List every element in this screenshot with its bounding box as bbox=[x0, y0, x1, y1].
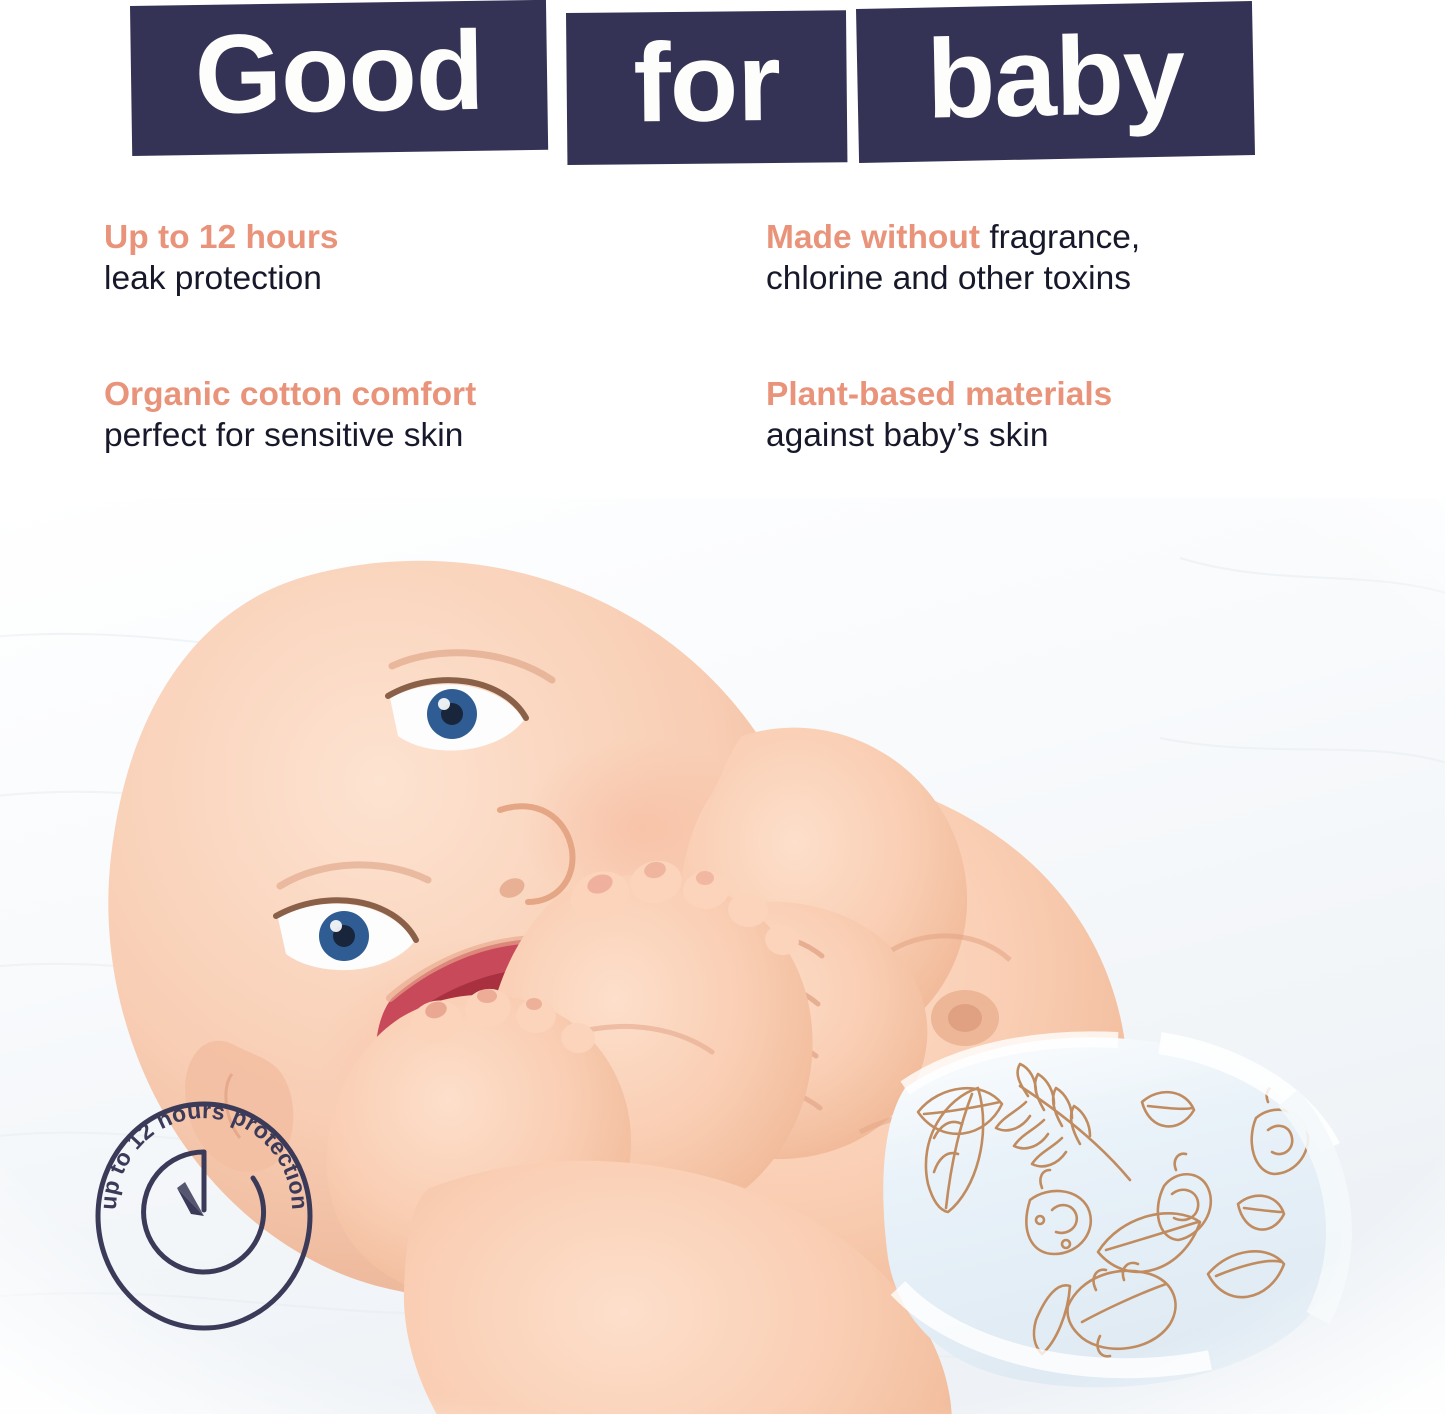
header-word-baby: baby bbox=[926, 18, 1186, 145]
feature-headline: Organic cotton comfort bbox=[104, 375, 476, 415]
feature-body-inline: fragrance, bbox=[980, 219, 1140, 256]
header-word-box-baby: baby bbox=[856, 1, 1255, 163]
header-word-box-for: for bbox=[566, 10, 847, 165]
feature-body: perfect for sensitive skin bbox=[104, 416, 476, 456]
feature-headline: Up to 12 hours bbox=[104, 218, 339, 258]
feature-item-plant-based: Plant-based materials against baby’s ski… bbox=[766, 375, 1112, 455]
feature-headline-text: Made without bbox=[766, 219, 980, 256]
feature-item-organic-cotton: Organic cotton comfort perfect for sensi… bbox=[104, 375, 476, 455]
header-word-box-good: Good bbox=[130, 0, 548, 156]
feature-item-made-without: Made without fragrance, chlorine and oth… bbox=[766, 218, 1140, 298]
header-banner: Good for baby bbox=[0, 0, 1445, 180]
feature-headline-text: Organic cotton comfort bbox=[104, 376, 476, 413]
header-word-for: for bbox=[633, 26, 780, 149]
feature-headline: Plant-based materials bbox=[766, 375, 1112, 415]
feature-body-second-line: chlorine and other toxins bbox=[766, 259, 1140, 299]
protection-badge-graphic: up to 12 hours protection bbox=[93, 1100, 315, 1332]
feature-body: against baby’s skin bbox=[766, 416, 1112, 456]
feature-body: leak protection bbox=[104, 259, 339, 299]
feature-headline: Made without fragrance, bbox=[766, 218, 1140, 258]
header-word-good: Good bbox=[194, 15, 484, 141]
feature-grid: Up to 12 hours leak protection Made with… bbox=[0, 205, 1445, 495]
feature-headline-text: Up to 12 hours bbox=[104, 219, 339, 256]
feature-item-leak-protection: Up to 12 hours leak protection bbox=[104, 218, 339, 298]
protection-badge: up to 12 hours protection bbox=[93, 1100, 315, 1332]
feature-headline-text: Plant-based materials bbox=[766, 376, 1112, 413]
